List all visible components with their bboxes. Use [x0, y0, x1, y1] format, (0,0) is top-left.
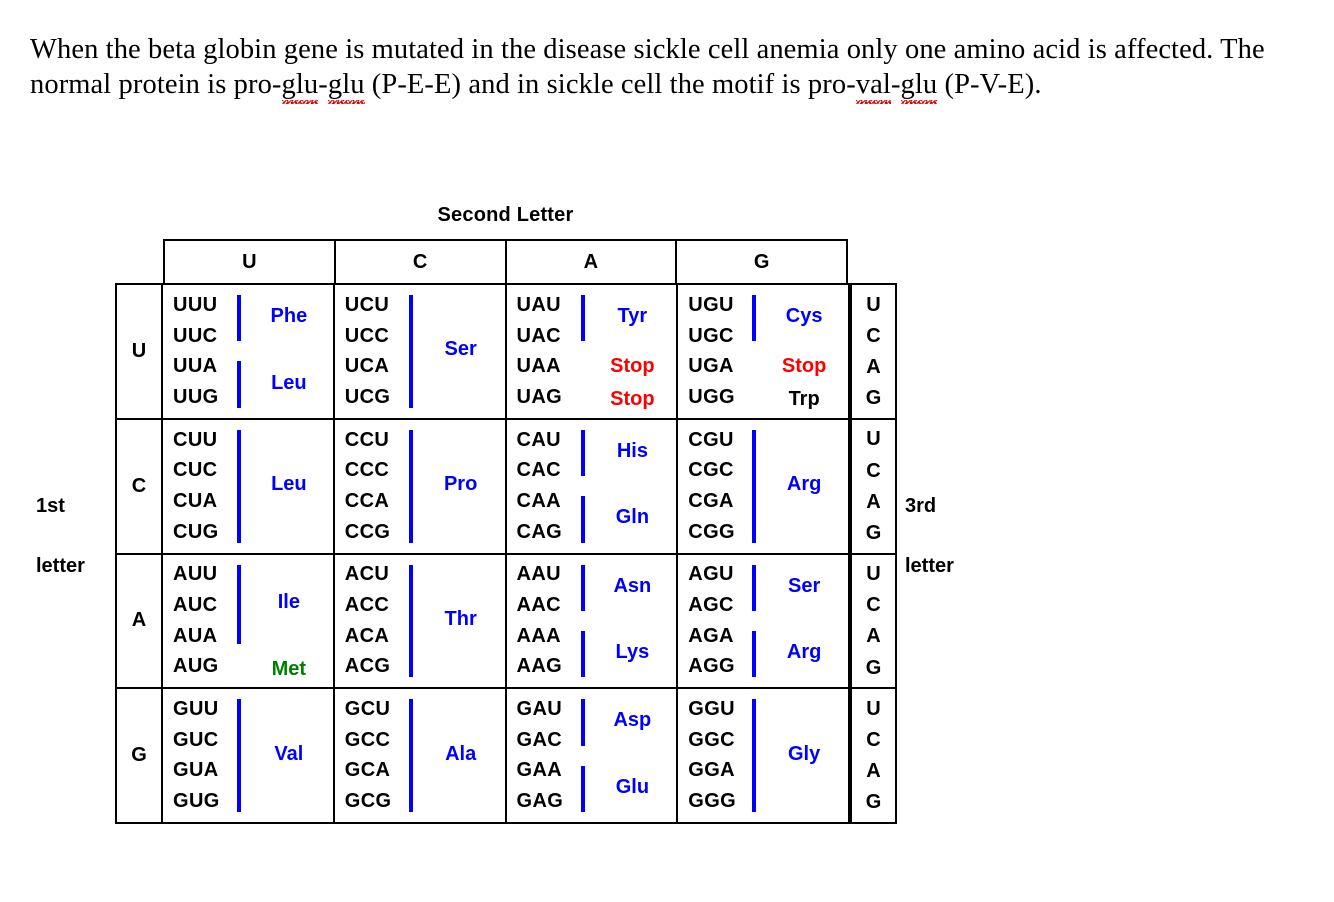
codon-line: UAG: [507, 382, 677, 413]
codon-line: UGA: [678, 351, 848, 382]
codon-uag: UAG: [507, 386, 563, 409]
codon-line: UCU: [335, 290, 505, 321]
codon-line: GGU: [678, 694, 848, 725]
codon-line: GUG: [163, 786, 333, 817]
codon-gau: GAU: [507, 698, 563, 721]
codon-line: CCU: [335, 425, 505, 456]
codon-line: AAG: [507, 652, 677, 683]
codon-cca: CCA: [335, 490, 390, 513]
third-letter-c: C: [866, 724, 880, 755]
codon-cell-ca: CAUCACCAACAGHisGln: [507, 420, 679, 553]
codon-line: ACC: [335, 590, 505, 621]
codon-line: CCG: [335, 517, 505, 548]
codon-uuu: UUU: [163, 294, 218, 317]
codon-line: GCU: [335, 694, 505, 725]
third-letter-g: G: [866, 383, 882, 414]
codon-line: AAA: [507, 621, 677, 652]
second-letter-title: Second Letter: [163, 204, 848, 227]
codon-cua: CUA: [163, 490, 218, 513]
paragraph-text: -: [891, 69, 901, 100]
codon-ggc: GGC: [678, 729, 735, 752]
codon-aua: AUA: [163, 625, 218, 648]
third-letter-u: U: [866, 559, 880, 590]
codon-line: GGA: [678, 756, 848, 787]
codon-block-row-u: UUUUUUCUUAUUGPheLeuUCUUCCUCAUCGSerUAUUAC…: [117, 285, 895, 420]
codon-line: UAA: [507, 351, 677, 382]
codon-line: CAG: [507, 517, 677, 548]
codon-uaa: UAA: [507, 355, 562, 378]
codon-line: CAC: [507, 455, 677, 486]
codon-line: AUU: [163, 560, 333, 591]
codon-aag: AAG: [507, 655, 563, 678]
codon-line: UGU: [678, 290, 848, 321]
codon-line: GCC: [335, 725, 505, 756]
codon-line: AGG: [678, 652, 848, 683]
codon-line: GAU: [507, 694, 677, 725]
third-letter-cell-block-a: UCAG: [850, 555, 895, 688]
codon-acc: ACC: [335, 594, 390, 617]
codon-aga: AGA: [678, 625, 734, 648]
intro-paragraph: When the beta globin gene is mutated in …: [30, 32, 1280, 102]
codon-line: UUG: [163, 382, 333, 413]
third-letter-c: C: [866, 455, 880, 486]
codon-cell-cg: CGUCGCCGACGGArg: [678, 420, 850, 553]
codon-line: CUA: [163, 486, 333, 517]
codon-line: GAA: [507, 756, 677, 787]
codon-cell-cc: CCUCCCCCACCGPro: [335, 420, 507, 553]
codon-uug: UUG: [163, 386, 219, 409]
codon-line: CGU: [678, 425, 848, 456]
codon-line: GGG: [678, 786, 848, 817]
codon-block-row-c: CCUUCUCCUACUGLeuCCUCCCCCACCGProCAUCACCAA…: [117, 420, 895, 555]
codon-aau: AAU: [507, 563, 562, 586]
codon-cell-gg: GGUGGCGGAGGGGly: [678, 689, 850, 822]
third-letter-g: G: [866, 787, 882, 818]
codon-gca: GCA: [335, 759, 391, 782]
codon-gag: GAG: [507, 790, 564, 813]
codon-auc: AUC: [163, 594, 218, 617]
codon-line: ACA: [335, 621, 505, 652]
third-letter-c: C: [866, 320, 880, 351]
codon-agu: AGU: [678, 563, 734, 586]
codon-line: CCA: [335, 486, 505, 517]
codon-gaa: GAA: [507, 759, 563, 782]
codon-line: CUG: [163, 517, 333, 548]
codon-cell-uu: UUUUUCUUAUUGPheLeu: [163, 285, 335, 418]
codon-line: GCG: [335, 786, 505, 817]
codon-line: GUU: [163, 694, 333, 725]
codon-gug: GUG: [163, 790, 220, 813]
first-letter-cell-u: U: [117, 285, 163, 418]
codon-gua: GUA: [163, 759, 219, 782]
paragraph-text: (P-E-E) and in sickle cell the motif is …: [365, 69, 856, 100]
codon-uga: UGA: [678, 355, 734, 378]
codon-line: GGC: [678, 725, 848, 756]
codon-line: UGC: [678, 321, 848, 352]
first-letter-label-line2: letter: [36, 555, 85, 578]
codon-cuc: CUC: [163, 459, 218, 482]
codon-line: AAC: [507, 590, 677, 621]
codon-line: GCA: [335, 756, 505, 787]
codon-line: ACG: [335, 652, 505, 683]
codon-aug: AUG: [163, 655, 219, 678]
codon-cgg: CGG: [678, 521, 735, 544]
codon-cell-ac: ACUACCACAACGThr: [335, 555, 507, 688]
codon-line: AUA: [163, 621, 333, 652]
codon-cell-au: AUUAUCAUAAUGIleMet: [163, 555, 335, 688]
codon-ucg: UCG: [335, 386, 391, 409]
first-letter-label-line1: 1st: [36, 495, 65, 518]
genetic-code-table: UUUUUUCUUAUUGPheLeuUCUUCCUCAUCGSerUAUUAC…: [115, 283, 897, 824]
codon-cell-gu: GUUGUCGUAGUGVal: [163, 689, 335, 822]
third-letter-label-line2: letter: [905, 555, 954, 578]
third-letter-a: A: [866, 621, 880, 652]
codon-guu: GUU: [163, 698, 219, 721]
codon-line: CAU: [507, 425, 677, 456]
codon-line: GAG: [507, 786, 677, 817]
codon-line: GUC: [163, 725, 333, 756]
codon-cell-ga: GAUGACGAAGAGAspGlu: [507, 689, 679, 822]
third-letter-label-line1: 3rd: [905, 495, 936, 518]
codon-line: UAU: [507, 290, 677, 321]
codon-cell-gc: GCUGCCGCAGCGAla: [335, 689, 507, 822]
third-letter-c: C: [866, 590, 880, 621]
codon-gac: GAC: [507, 729, 563, 752]
codon-ccc: CCC: [335, 459, 390, 482]
codon-line: CGA: [678, 486, 848, 517]
misspelled-word: val: [856, 67, 891, 102]
codon-aca: ACA: [335, 625, 390, 648]
codon-aaa: AAA: [507, 625, 562, 648]
codon-uac: UAC: [507, 325, 562, 348]
first-letter-cell-g: G: [117, 689, 163, 822]
codon-ccu: CCU: [335, 429, 390, 452]
misspelled-word: glu: [328, 67, 365, 102]
codon-gcc: GCC: [335, 729, 391, 752]
codon-line: AUG: [163, 652, 333, 683]
misspelled-word: glu: [901, 67, 938, 102]
third-letter-cell-block-g: UCAG: [850, 689, 895, 822]
codon-caa: CAA: [507, 490, 562, 513]
codon-line: CUC: [163, 455, 333, 486]
codon-agg: AGG: [678, 655, 735, 678]
third-letter-g: G: [866, 517, 882, 548]
codon-uca: UCA: [335, 355, 390, 378]
second-letter-header-g: G: [677, 241, 846, 284]
codon-line: CGC: [678, 455, 848, 486]
paragraph-text: -: [318, 69, 328, 100]
codon-ggu: GGU: [678, 698, 735, 721]
codon-cell-aa: AAUAACAAAAAGAsnLys: [507, 555, 679, 688]
codon-gga: GGA: [678, 759, 735, 782]
third-letter-u: U: [866, 289, 880, 320]
codon-gcu: GCU: [335, 698, 391, 721]
misspelled-word: glu: [282, 67, 319, 102]
codon-cac: CAC: [507, 459, 562, 482]
codon-guc: GUC: [163, 729, 219, 752]
codon-cug: CUG: [163, 521, 219, 544]
codon-line: CCC: [335, 455, 505, 486]
codon-block-row-a: AAUUAUCAUAAUGIleMetACUACCACAACGThrAAUAAC…: [117, 555, 895, 690]
codon-cgc: CGC: [678, 459, 734, 482]
codon-line: GUA: [163, 756, 333, 787]
codon-acg: ACG: [335, 655, 391, 678]
codon-cell-cu: CUUCUCCUACUGLeu: [163, 420, 335, 553]
codon-line: UAC: [507, 321, 677, 352]
third-letter-a: A: [866, 486, 880, 517]
third-letter-u: U: [866, 424, 880, 455]
codon-cell-ug: UGUUGCUGAUGGCysStopTrp: [678, 285, 850, 418]
codon-line: CGG: [678, 517, 848, 548]
second-letter-header-row: U C A G: [163, 239, 848, 284]
third-letter-a: A: [866, 756, 880, 787]
codon-line: UUU: [163, 290, 333, 321]
codon-ugc: UGC: [678, 325, 734, 348]
codon-ucu: UCU: [335, 294, 390, 317]
codon-line: GAC: [507, 725, 677, 756]
third-letter-cell-block-u: UCAG: [850, 285, 895, 418]
codon-cell-uc: UCUUCCUCAUCGSer: [335, 285, 507, 418]
codon-uuc: UUC: [163, 325, 218, 348]
third-letter-u: U: [866, 693, 880, 724]
codon-line: AUC: [163, 590, 333, 621]
codon-aac: AAC: [507, 594, 562, 617]
third-letter-a: A: [866, 351, 880, 382]
second-letter-header-u: U: [165, 241, 336, 284]
codon-line: CUU: [163, 425, 333, 456]
codon-ggg: GGG: [678, 790, 736, 813]
codon-table-figure: Second Letter U C A G 1st letter 3rd let…: [0, 200, 1334, 860]
codon-uau: UAU: [507, 294, 562, 317]
codon-line: UGG: [678, 382, 848, 413]
codon-line: CAA: [507, 486, 677, 517]
codon-line: AAU: [507, 560, 677, 591]
codon-cau: CAU: [507, 429, 562, 452]
codon-uua: UUA: [163, 355, 218, 378]
codon-line: UCC: [335, 321, 505, 352]
codon-cell-ua: UAUUACUAAUAGTyrStopStop: [507, 285, 679, 418]
codon-acu: ACU: [335, 563, 390, 586]
codon-cgu: CGU: [678, 429, 734, 452]
codon-cuu: CUU: [163, 429, 218, 452]
third-letter-cell-block-c: UCAG: [850, 420, 895, 553]
codon-ugu: UGU: [678, 294, 734, 317]
codon-line: UCA: [335, 351, 505, 382]
first-letter-cell-a: A: [117, 555, 163, 688]
codon-agc: AGC: [678, 594, 734, 617]
codon-line: UUC: [163, 321, 333, 352]
third-letter-g: G: [866, 652, 882, 683]
codon-ugg: UGG: [678, 386, 735, 409]
codon-ucc: UCC: [335, 325, 390, 348]
codon-gcg: GCG: [335, 790, 392, 813]
codon-line: AGA: [678, 621, 848, 652]
codon-cell-ag: AGUAGCAGAAGGSerArg: [678, 555, 850, 688]
first-letter-cell-c: C: [117, 420, 163, 553]
second-letter-header-c: C: [336, 241, 507, 284]
paragraph-text: (P-V-E).: [937, 69, 1041, 100]
codon-line: AGU: [678, 560, 848, 591]
second-letter-header-a: A: [507, 241, 678, 284]
codon-line: UUA: [163, 351, 333, 382]
codon-line: AGC: [678, 590, 848, 621]
codon-line: ACU: [335, 560, 505, 591]
codon-cag: CAG: [507, 521, 563, 544]
codon-ccg: CCG: [335, 521, 391, 544]
codon-line: UCG: [335, 382, 505, 413]
codon-auu: AUU: [163, 563, 218, 586]
codon-block-row-g: GGUUGUCGUAGUGValGCUGCCGCAGCGAlaGAUGACGAA…: [117, 689, 895, 822]
codon-cga: CGA: [678, 490, 734, 513]
